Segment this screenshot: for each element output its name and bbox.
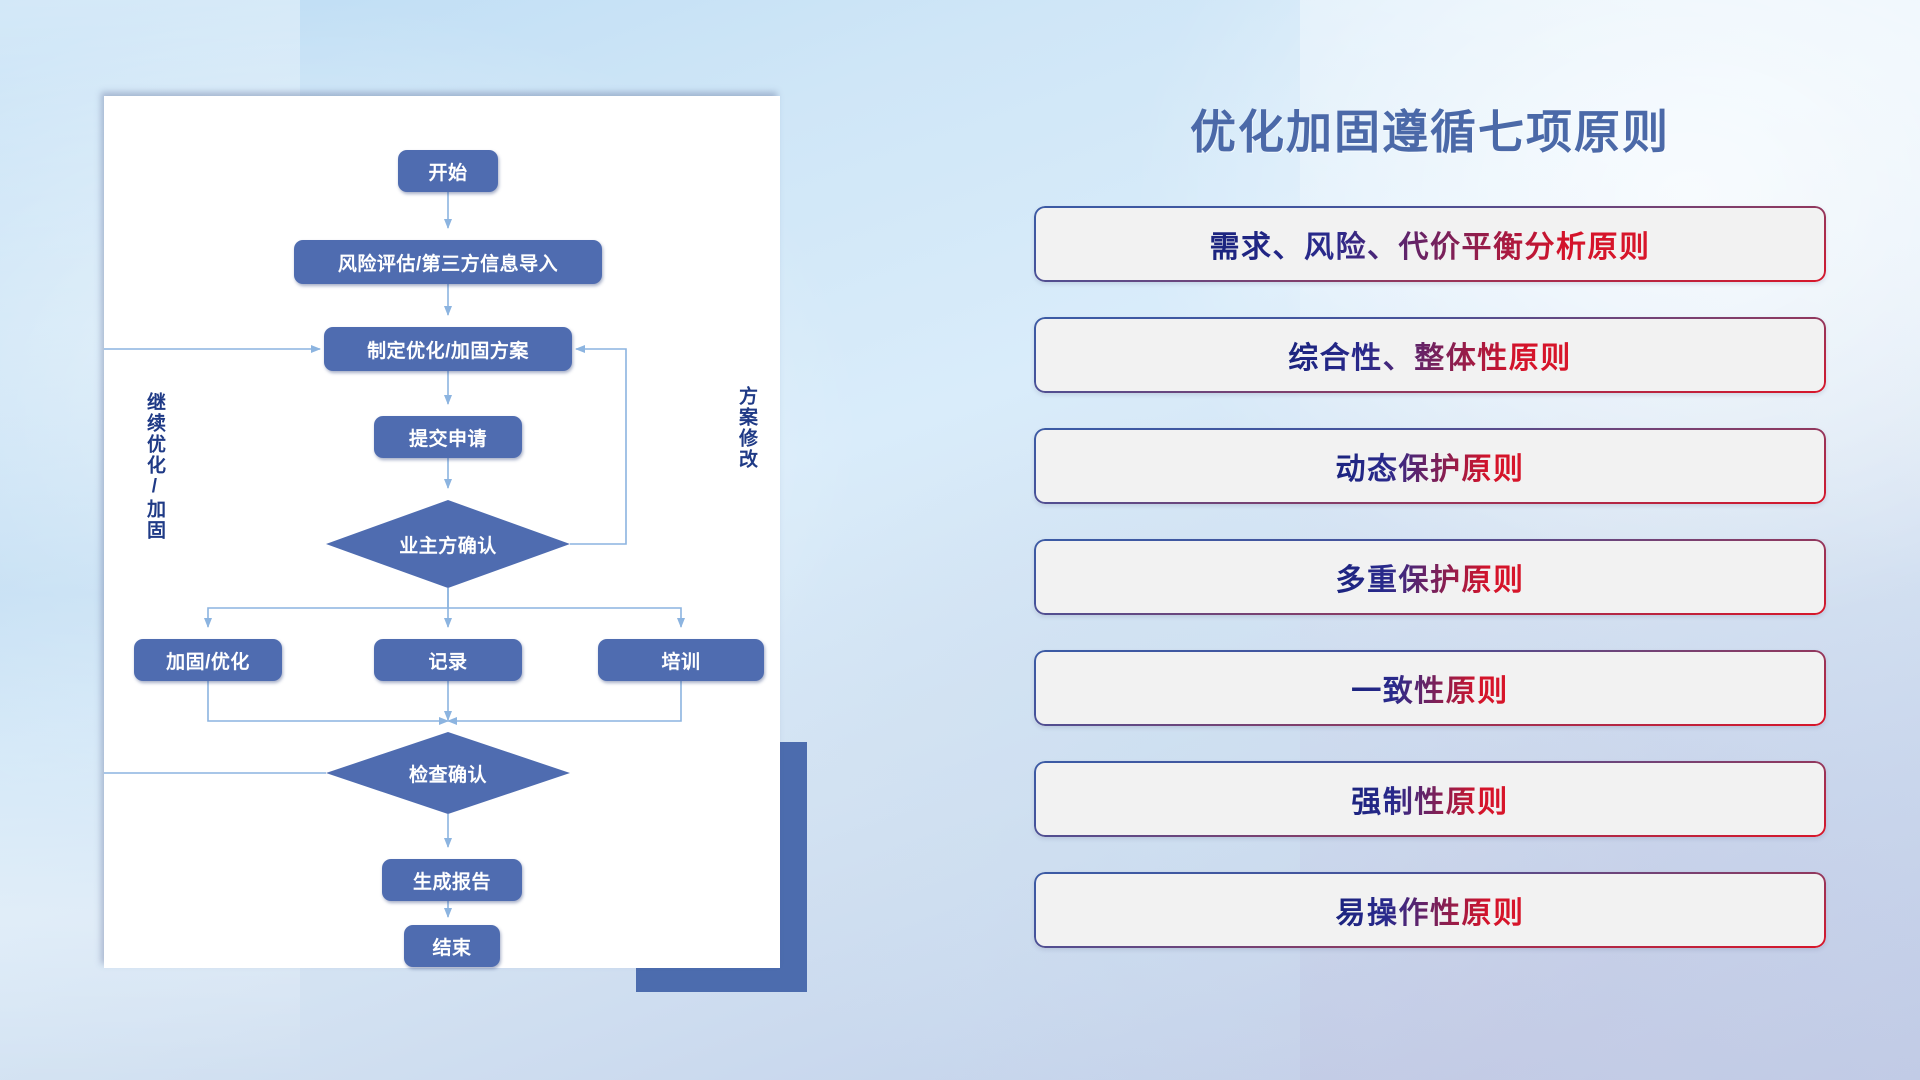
flow-node-report[interactable]: 生成报告 [382, 859, 522, 901]
flow-node-label: 记录 [428, 647, 467, 674]
flow-node-check[interactable]: 检查确认 [326, 732, 570, 814]
principle-item[interactable]: 动态保护原则 [1034, 428, 1826, 504]
panel-title: 优化加固遵循七项原则 [1020, 96, 1840, 162]
flow-node-label: 结束 [432, 933, 471, 960]
flow-node-owner[interactable]: 业主方确认 [326, 500, 570, 588]
flow-node-plan[interactable]: 制定优化/加固方案 [324, 327, 572, 371]
flowchart-card: 开始风险评估/第三方信息导入制定优化/加固方案提交申请业主方确认加固/优化记录培… [104, 96, 780, 968]
flow-node-label: 检查确认 [409, 760, 487, 787]
principle-item-label: 需求、风险、代价平衡分析原则 [1210, 222, 1651, 266]
flow-node-label: 制定优化/加固方案 [367, 336, 529, 363]
flow-node-training[interactable]: 培训 [598, 639, 764, 681]
flow-edge-label-plan-revise: 方案修改 [736, 386, 756, 470]
principle-item[interactable]: 易操作性原则 [1034, 872, 1826, 948]
principle-item[interactable]: 强制性原则 [1034, 761, 1826, 837]
flow-node-label: 培训 [661, 647, 700, 674]
flow-node-label: 业主方确认 [399, 531, 497, 558]
flow-node-label: 开始 [428, 158, 467, 185]
flow-node-reinforce[interactable]: 加固/优化 [134, 639, 282, 681]
principle-item-label: 强制性原则 [1351, 777, 1509, 821]
flow-node-label: 生成报告 [413, 867, 491, 894]
flow-node-label: 风险评估/第三方信息导入 [338, 249, 558, 276]
flow-node-end[interactable]: 结束 [404, 925, 500, 967]
principles-panel: 优化加固遵循七项原则 需求、风险、代价平衡分析原则综合性、整体性原则动态保护原则… [1020, 96, 1840, 983]
flow-node-label: 提交申请 [409, 424, 487, 451]
principle-item-label: 易操作性原则 [1336, 888, 1525, 932]
flow-node-start[interactable]: 开始 [398, 150, 498, 192]
principle-item-label: 动态保护原则 [1336, 444, 1525, 488]
principle-item[interactable]: 需求、风险、代价平衡分析原则 [1034, 206, 1826, 282]
flow-node-label: 加固/优化 [166, 647, 250, 674]
flow-node-submit[interactable]: 提交申请 [374, 416, 522, 458]
principle-item[interactable]: 一致性原则 [1034, 650, 1826, 726]
flow-node-record[interactable]: 记录 [374, 639, 522, 681]
principle-item-label: 一致性原则 [1351, 666, 1509, 710]
flow-node-risk[interactable]: 风险评估/第三方信息导入 [294, 240, 602, 284]
principle-item-label: 多重保护原则 [1336, 555, 1525, 599]
flow-edge-label-continue-opt: 继续优化/加固 [144, 392, 164, 541]
principles-list: 需求、风险、代价平衡分析原则综合性、整体性原则动态保护原则多重保护原则一致性原则… [1020, 206, 1840, 948]
principle-item[interactable]: 多重保护原则 [1034, 539, 1826, 615]
principle-item[interactable]: 综合性、整体性原则 [1034, 317, 1826, 393]
principle-item-label: 综合性、整体性原则 [1288, 333, 1572, 377]
